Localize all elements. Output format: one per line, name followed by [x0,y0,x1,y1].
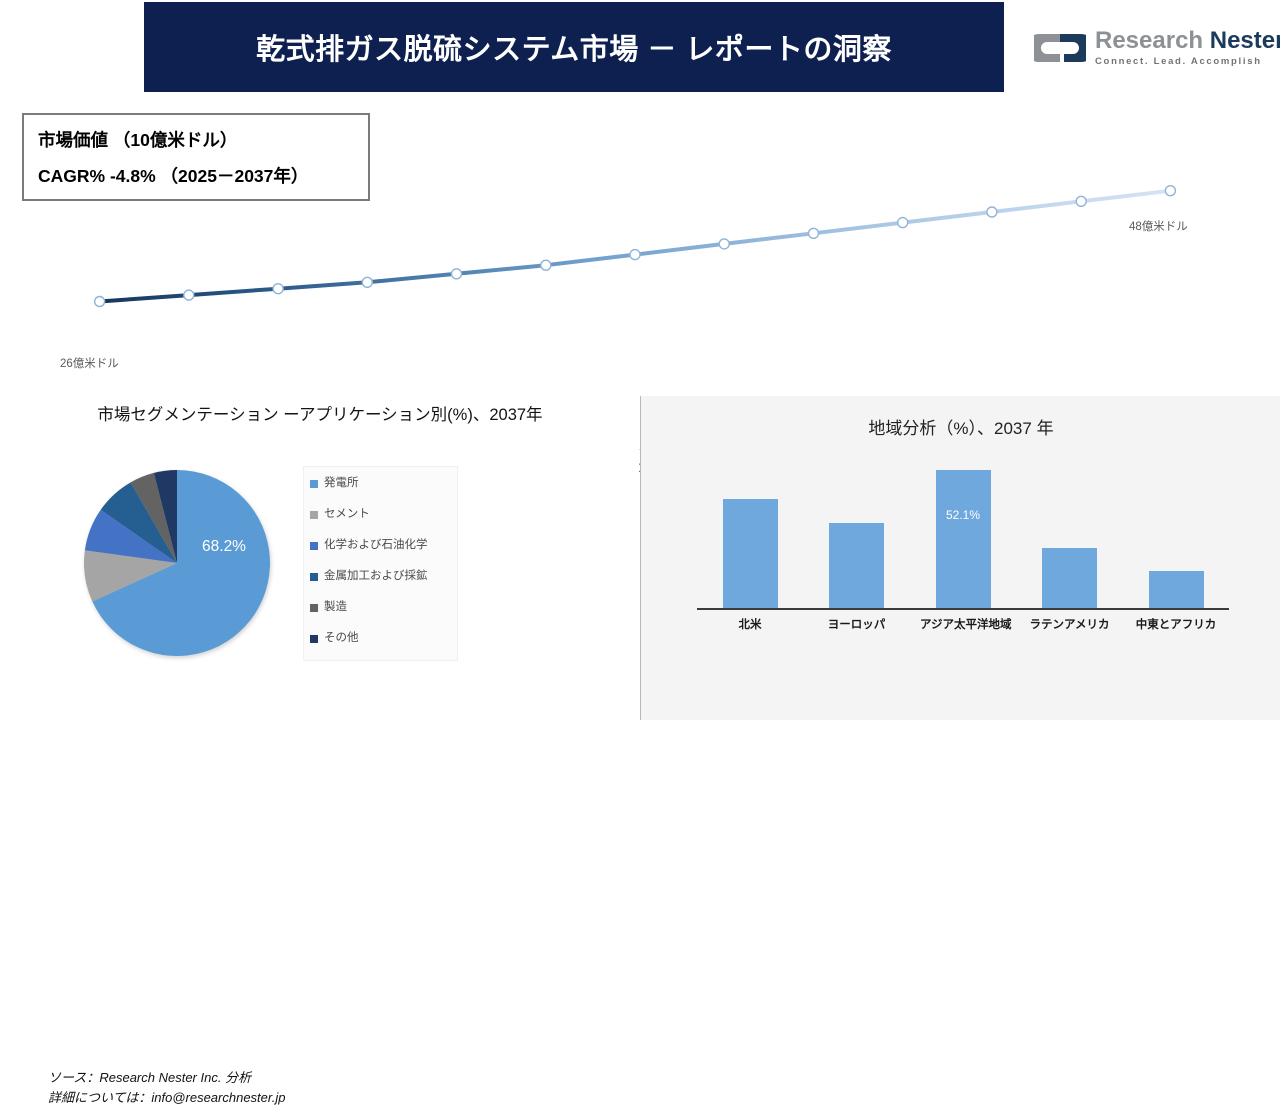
legend-swatch-icon [310,542,318,550]
legend-swatch-icon [310,604,318,612]
pie-legend-item[interactable]: 化学および石油化学 [310,539,451,570]
bar-chart-title: 地域分析（%）、2037 年 [641,414,1280,439]
line-data-point [719,239,729,249]
line-data-point [273,284,283,294]
pie-legend-label: 発電所 [324,477,359,490]
logo-mark-icon [1034,28,1086,68]
pie-legend-label: 製造 [324,601,347,614]
line-data-point [1076,196,1086,206]
bar-chart-baseline [697,608,1229,610]
pie-legend-item[interactable]: 発電所 [310,477,451,508]
line-data-point [898,218,908,228]
market-value-line-chart: 26億米ドル 48億米ドル 2024年2025年2026年2027年2028年2… [0,100,1280,390]
logo-word-research: Research [1095,27,1203,54]
bar-column[interactable] [1133,470,1219,608]
line-start-value-label: 26億米ドル [60,355,119,371]
footer-contact-line: 詳細については：info@researchnester.jp [48,1088,285,1108]
bar-category-label: 北米 [707,616,793,632]
bar-category-label: ヨーロッパ [814,616,900,632]
bar-chart-x-labels: 北米ヨーロッパアジア太平洋地域ラテンアメリカ中東とアフリカ [707,616,1219,632]
legend-swatch-icon [310,573,318,581]
logo-wordmark: Research Nester [1095,29,1280,53]
logo-word-nester: Nester [1210,27,1280,54]
bar [829,523,884,608]
pie-chart-svg [82,468,272,658]
line-data-point [987,207,997,217]
pie-legend-label: セメント [324,508,370,521]
pie-chart-title: 市場セグメンテーション ーアプリケーション別(%)、2037年 [55,404,585,426]
pie-chart: 68.2% [82,468,292,658]
line-data-point [541,260,551,270]
bar-column[interactable] [1027,470,1113,608]
page-title: 乾式排ガス脱硫システム市場 － レポートの洞察 [256,26,892,68]
pie-legend-item[interactable]: 製造 [310,601,451,632]
bar [1149,571,1204,608]
line-data-point [809,228,819,238]
bar-column[interactable] [707,470,793,608]
bar-chart-bars: 52.1% [707,470,1219,608]
line-data-point [1165,186,1175,196]
company-logo: Research Nester Connect. Lead. Accomplis… [1034,20,1264,76]
line-chart-svg [0,100,1280,390]
pie-main-slice-label: 68.2% [182,538,266,556]
pie-legend-label: その他 [324,632,359,645]
line-data-point [630,250,640,260]
bar-column[interactable]: 52.1% [920,470,1006,608]
pie-legend-item[interactable]: セメント [310,508,451,539]
source-footer: ソース：Research Nester Inc. 分析 詳細については：info… [48,1068,285,1108]
pie-legend-label: 金属加工および採鉱 [324,570,428,583]
bar-category-label: アジア太平洋地域 [920,616,1006,632]
bar [1042,548,1097,608]
line-data-point [362,277,372,287]
logo-tagline: Connect. Lead. Accomplish [1095,57,1280,67]
legend-swatch-icon [310,480,318,488]
legend-swatch-icon [310,511,318,519]
footer-source-line: ソース：Research Nester Inc. 分析 [48,1068,285,1088]
bar [936,470,991,608]
bar-value-label: 52.1% [920,508,1006,522]
pie-legend: 発電所セメント化学および石油化学金属加工および採鉱製造その他 [303,466,458,661]
bar-column[interactable] [814,470,900,608]
header-banner: 乾式排ガス脱硫システム市場 － レポートの洞察 [144,2,1004,92]
line-data-point [184,290,194,300]
line-data-point [95,297,105,307]
pie-legend-item[interactable]: 金属加工および採鉱 [310,570,451,601]
legend-swatch-icon [310,635,318,643]
segmentation-pie-panel: 市場セグメンテーション ーアプリケーション別(%)、2037年 68.2% 発電… [0,396,639,720]
bar-category-label: 中東とアフリカ [1133,616,1219,632]
bar [723,499,778,608]
regional-analysis-panel: 地域分析（%）、2037 年 52.1% 北米ヨーロッパアジア太平洋地域ラテンア… [640,396,1280,720]
pie-legend-label: 化学および石油化学 [324,539,428,552]
line-end-value-label: 48億米ドル [1129,218,1188,234]
bar-category-label: ラテンアメリカ [1027,616,1113,632]
line-data-point [452,269,462,279]
pie-legend-item[interactable]: その他 [310,632,451,663]
